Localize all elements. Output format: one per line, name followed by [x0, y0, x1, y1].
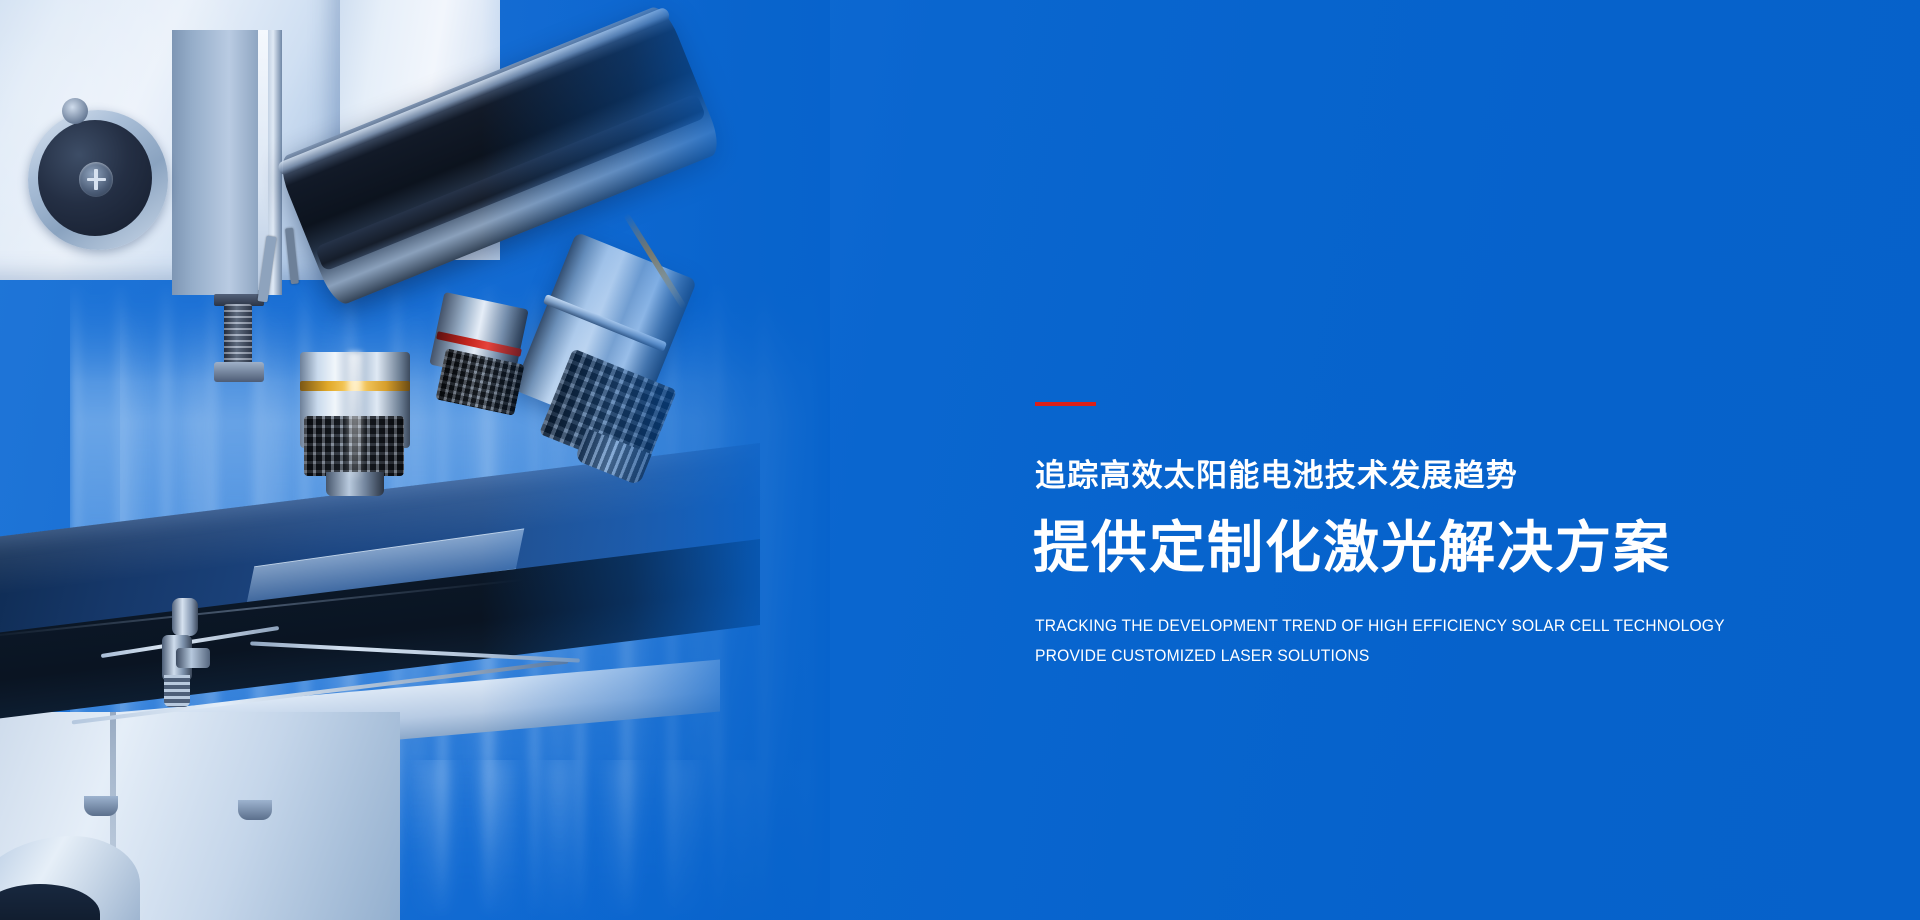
focus-knob [28, 110, 168, 250]
focus-knob-screw-head [79, 162, 113, 197]
thumbscrew-shaft [224, 304, 252, 366]
objective-lens-front-highlight [348, 352, 362, 478]
thumbscrew-head [214, 362, 264, 382]
small-screw [62, 98, 88, 124]
banner-subtitle-en-line1: TRACKING THE DEVELOPMENT TREND OF HIGH E… [1035, 616, 1826, 636]
hero-banner: 追踪高效太阳能电池技术发展趋势 提供定制化激光解决方案 TRACKING THE… [0, 0, 1920, 920]
microscope-photo [0, 0, 830, 920]
screw-slot-vertical [94, 169, 97, 190]
base-screw-left [84, 796, 118, 816]
banner-subtitle-en-line2: PROVIDE CUSTOMIZED LASER SOLUTIONS [1035, 646, 1826, 666]
accent-rule [1035, 402, 1096, 406]
focus-knob-inner-ring [38, 120, 152, 236]
stage-clip-knob [172, 598, 198, 636]
banner-headline-zh: 提供定制化激光解决方案 [1033, 513, 1853, 583]
banner-content: 追踪高效太阳能电池技术发展趋势 提供定制化激光解决方案 TRACKING THE… [1035, 0, 1895, 920]
banner-kicker-zh: 追踪高效太阳能电池技术发展趋势 [1035, 456, 1855, 496]
base-screw-right [238, 800, 272, 820]
stage-clip-collar [176, 648, 210, 668]
